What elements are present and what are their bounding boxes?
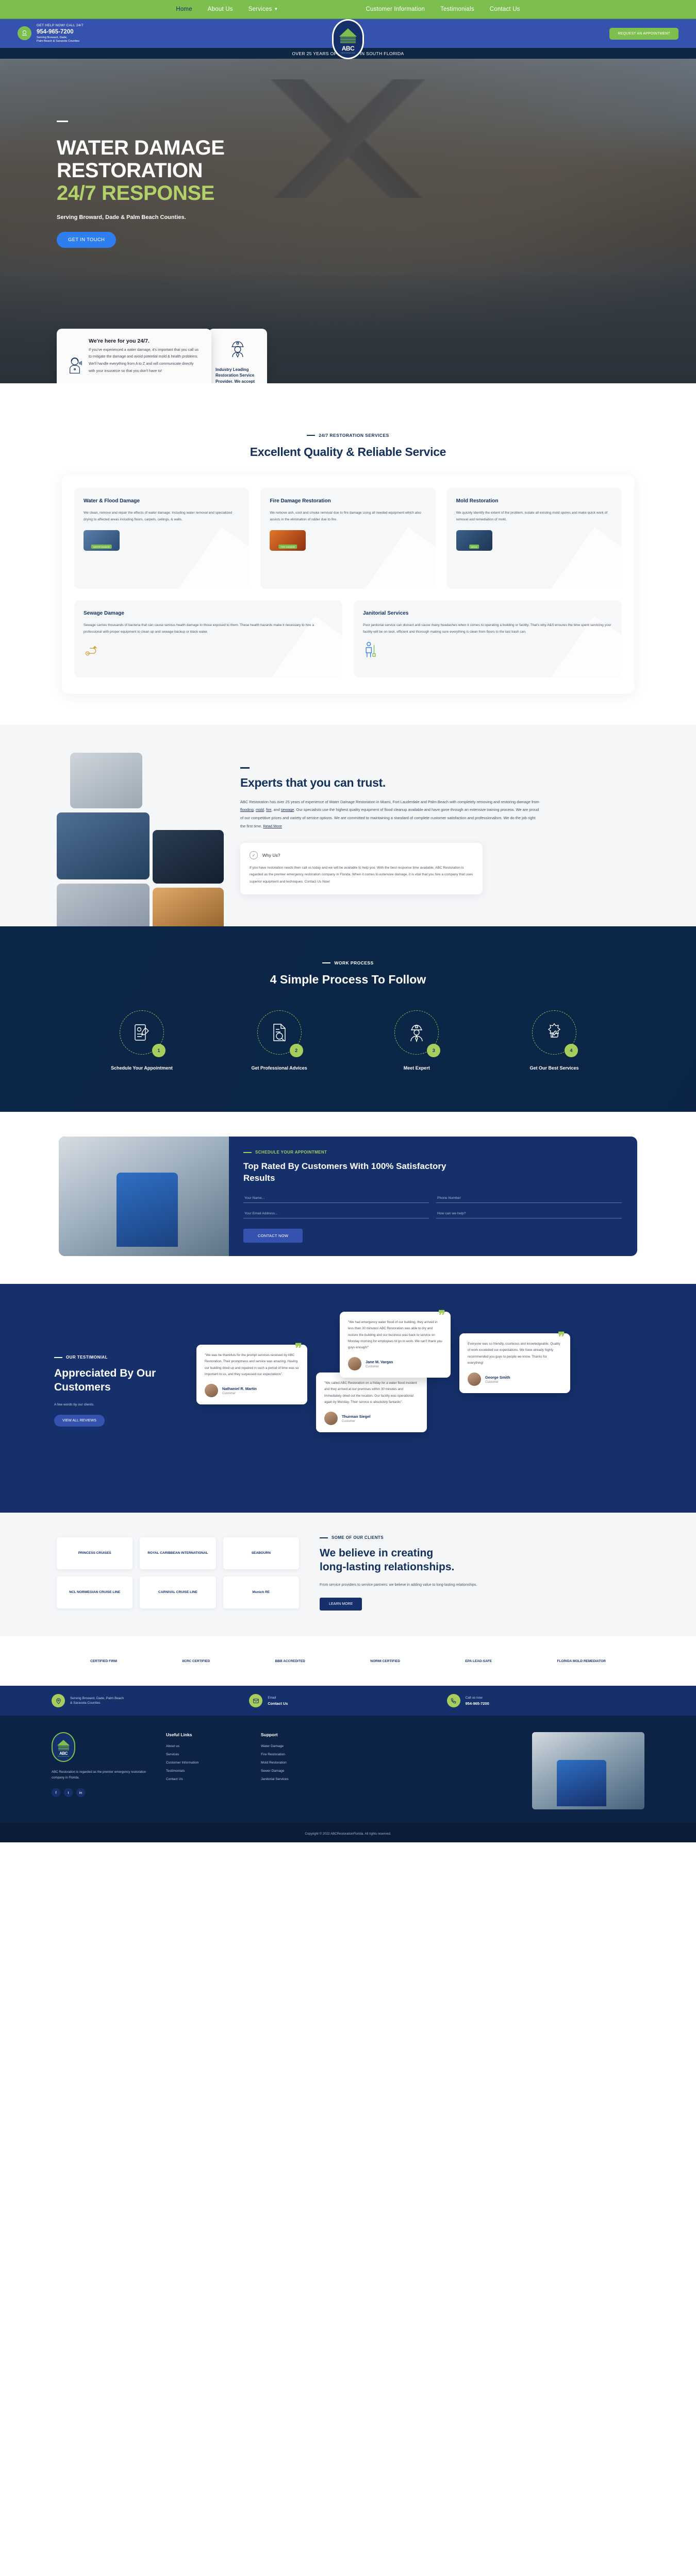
testimonials-section: OUR TESTIMONIAL Appreciated By Our Custo… xyxy=(0,1284,696,1513)
clients-title-line1: We believe in creating xyxy=(320,1547,433,1559)
message-input[interactable] xyxy=(436,1209,622,1218)
nav-item-home[interactable]: Home xyxy=(176,6,192,12)
testimonials-title: Appreciated By Our Customers xyxy=(54,1367,183,1395)
appointment-title: Top Rated By Customers With 100% Satisfa… xyxy=(243,1161,465,1184)
footer-column-useful-links: Useful Links About us Services Customer … xyxy=(166,1732,243,1809)
footer-link-janitorial-services[interactable]: Janitorial Services xyxy=(261,1777,338,1781)
chevron-down-icon: ▼ xyxy=(274,7,278,11)
envelope-icon xyxy=(249,1694,262,1707)
nav-item-contact-us[interactable]: Contact Us xyxy=(490,6,520,12)
info-strip-phone-label: Call us now xyxy=(466,1696,489,1700)
collage-photo-1 xyxy=(70,753,142,808)
view-all-reviews-button[interactable]: VIEW ALL REVIEWS xyxy=(54,1415,105,1427)
info-strip-phone-number[interactable]: 954-965-7200 xyxy=(466,1701,489,1706)
experts-paragraph-pre: ABC Restoration has over 25 years of exp… xyxy=(240,800,539,804)
hero-accent-dash xyxy=(57,121,68,122)
hard-hat-worker-icon xyxy=(216,339,260,360)
main-navigation: Home About Us Services▼ Customer Informa… xyxy=(0,0,696,19)
client-logo: Munich RE xyxy=(223,1577,299,1608)
contact-bar-serving-line2: Palm Beach & Sarasota Counties xyxy=(37,40,84,43)
abc-restoration-logo[interactable]: ABC RESTORATION xyxy=(332,19,364,59)
service-card-title: Mold Restoration xyxy=(456,498,612,504)
hero-headline-line3: 24/7 RESPONSE xyxy=(57,182,214,205)
certification-badge: CERTIFIED FIRM xyxy=(90,1650,117,1673)
footer-logo[interactable]: ABC RESTORATION xyxy=(52,1732,75,1762)
avatar xyxy=(205,1384,218,1397)
process-step-1[interactable]: 1 Schedule Your Appointment xyxy=(90,1010,193,1072)
why-us-title: Why Us? xyxy=(262,853,280,858)
facebook-icon[interactable]: f xyxy=(52,1788,60,1797)
avatar xyxy=(468,1372,481,1386)
industry-leading-card: Industry Leading Restoration Service Pro… xyxy=(208,329,267,383)
service-card-body: We remove ash, soot and smoke removal du… xyxy=(270,510,426,523)
availability-card: We're here for you 24/7. If you've exper… xyxy=(57,329,211,383)
logo-wordmark: ABC xyxy=(342,45,355,52)
janitor-icon xyxy=(363,641,612,662)
link-sewage[interactable]: sewage xyxy=(281,807,294,812)
clipboard-signup-icon xyxy=(133,1023,151,1042)
clients-title: We believe in creating long-lasting rela… xyxy=(320,1546,639,1574)
link-mold[interactable]: mold xyxy=(256,807,264,812)
info-strip-email-link[interactable]: Contact Us xyxy=(268,1701,288,1706)
nav-item-testimonials[interactable]: Testimonials xyxy=(440,6,474,12)
service-card-title: Janitorial Services xyxy=(363,611,612,616)
eyebrow-dash xyxy=(322,962,330,963)
experts-photo-collage xyxy=(57,753,227,894)
client-logo: SEABOURN xyxy=(223,1537,299,1569)
footer-column-heading: Useful Links xyxy=(166,1732,243,1737)
service-card-body: We clean, remove and repair the effects … xyxy=(84,510,240,523)
process-step-4[interactable]: 4 Get Our Best Services xyxy=(503,1010,606,1072)
process-step-number: 1 xyxy=(152,1044,165,1057)
service-thumb-badge: FIRE DAMAGE xyxy=(279,545,297,549)
footer-link-fire-restoration[interactable]: Fire Restoration xyxy=(261,1753,338,1756)
certification-badge: FLORIDA MOLD REMEDIATOR xyxy=(557,1650,606,1673)
service-card-sewage-damage[interactable]: Sewage Damage Sewage carries thousands o… xyxy=(74,600,342,677)
footer-description: ABC Restoration is regarded as the premi… xyxy=(52,1769,148,1781)
location-pin-icon xyxy=(52,1694,65,1707)
services-eyebrow: 24/7 RESTORATION SERVICES xyxy=(0,433,696,438)
footer-link-customer-information[interactable]: Customer Information xyxy=(166,1761,243,1765)
name-input[interactable] xyxy=(243,1194,429,1203)
service-card-title: Sewage Damage xyxy=(84,611,333,616)
testimonial-cards: ❞ "We was be thankfuls for the prompt se… xyxy=(196,1312,642,1482)
process-step-number: 2 xyxy=(290,1044,303,1057)
get-in-touch-button[interactable]: GET IN TOUCH xyxy=(57,232,116,248)
process-step-label: Get Professional Advices xyxy=(228,1065,331,1072)
info-strip-email[interactable]: Email Contact Us xyxy=(249,1694,446,1707)
service-card-body: Sewage carries thousands of bacteria tha… xyxy=(84,622,333,635)
appointment-eyebrow: SCHEDULE YOUR APPOINTMENT xyxy=(243,1150,622,1155)
hero-headline-line2: RESTORATION xyxy=(57,159,203,182)
client-logo: PRINCESS CRUISES xyxy=(57,1537,132,1569)
testimonial-author: Thurman Siegel xyxy=(342,1414,370,1419)
process-step-label: Schedule Your Appointment xyxy=(90,1065,193,1072)
footer-link-about-us[interactable]: About us xyxy=(166,1744,243,1748)
link-flooding[interactable]: flooding xyxy=(240,807,254,812)
info-strip-location-line1: Serving Broward, Dade, Palm Beach xyxy=(70,1696,124,1701)
quote-icon: ❞ xyxy=(295,1342,302,1355)
worker-icon xyxy=(408,1023,425,1042)
certification-badge: NORMI CERTIFIED xyxy=(370,1650,400,1673)
water-damage-thumb: WATER DAMAGE xyxy=(84,530,120,551)
logo-house-body-icon xyxy=(340,36,356,44)
eyebrow-dash xyxy=(307,435,315,436)
learn-more-button[interactable]: LEARN MORE xyxy=(320,1598,362,1611)
services-title: Excellent Quality & Reliable Service xyxy=(0,445,696,459)
services-panel: Water & Flood Damage We clean, remove an… xyxy=(62,474,634,694)
nav-item-services-label: Services xyxy=(248,6,272,12)
support-agent-icon xyxy=(66,355,84,383)
process-step-3[interactable]: 3 Meet Expert xyxy=(365,1010,468,1072)
client-logo: NCL NORWEGIAN CRUISE LINE xyxy=(57,1577,132,1608)
collage-photo-2 xyxy=(57,812,150,879)
contact-bar: GET HELP NOW! CALL 24/7 954-965-7200 Ser… xyxy=(0,19,696,48)
testimonial-role: Customer xyxy=(485,1381,510,1384)
quote-icon: ❞ xyxy=(438,1309,445,1322)
testimonial-quote: "We called ABC Restoration on a friday f… xyxy=(324,1380,419,1405)
certifications-section: CERTIFIED FIRM IICRC CERTIFIED BBB ACCRE… xyxy=(0,1636,696,1686)
footer-social-links: f t in xyxy=(52,1788,148,1797)
services-section: 24/7 RESTORATION SERVICES Excellent Qual… xyxy=(0,383,696,725)
info-strip-location-line2: & Sarasota Counties xyxy=(70,1701,124,1705)
process-title: 4 Simple Process To Follow xyxy=(0,973,696,987)
service-thumb-badge: MOLD xyxy=(469,545,479,549)
footer-link-contact-us[interactable]: Contact Us xyxy=(166,1777,243,1781)
site-footer: ABC RESTORATION ABC Restoration is regar… xyxy=(0,1716,696,1823)
experts-paragraph: ABC Restoration has over 25 years of exp… xyxy=(240,798,539,831)
certification-badge: EPA LEAD-SAFE xyxy=(465,1650,492,1673)
process-step-2[interactable]: 2 Get Professional Advices xyxy=(228,1010,331,1072)
testimonial-role: Customer xyxy=(342,1420,370,1423)
logo-roof-icon xyxy=(339,28,357,37)
footer-column-heading: Support xyxy=(261,1732,338,1737)
contact-bar-serving-line1: Serving Broward, Dade, xyxy=(37,36,84,40)
contact-bar-kicker: GET HELP NOW! CALL 24/7 xyxy=(37,24,84,28)
fire-damage-thumb: FIRE DAMAGE xyxy=(270,530,306,551)
phone-input[interactable] xyxy=(436,1194,622,1203)
service-card-mold-restoration[interactable]: Mold Restoration We quickly identify the… xyxy=(447,488,622,589)
thumbs-up-badge-icon xyxy=(545,1023,563,1042)
quote-icon: ❞ xyxy=(558,1330,565,1344)
services-eyebrow-text: 24/7 RESTORATION SERVICES xyxy=(319,433,389,438)
testimonial-card: ❞ "We was be thankfuls for the prompt se… xyxy=(196,1345,307,1404)
check-circle-icon: ✓ xyxy=(250,851,258,859)
phone-icon xyxy=(447,1694,460,1707)
testimonials-note: A few words by our clients. xyxy=(54,1403,183,1406)
copyright-bar: Copyright © 2022 ABCRestorationFlorida. … xyxy=(0,1823,696,1842)
appointment-form: CONTACT NOW xyxy=(243,1194,622,1243)
collage-photo-4 xyxy=(153,830,224,884)
testimonial-role: Customer xyxy=(222,1392,257,1395)
process-step-number: 3 xyxy=(427,1044,440,1057)
mold-restoration-thumb: MOLD xyxy=(456,530,492,551)
availability-card-body: If you've experienced a water damage, it… xyxy=(89,347,201,375)
appointment-eyebrow-text: SCHEDULE YOUR APPOINTMENT xyxy=(255,1150,327,1155)
email-input[interactable] xyxy=(243,1209,429,1218)
eyebrow-dash xyxy=(54,1357,62,1358)
client-logo-grid: PRINCESS CRUISES ROYAL CARIBBEAN INTERNA… xyxy=(57,1537,299,1608)
footer-link-testimonials[interactable]: Testimonials xyxy=(166,1769,243,1773)
info-strip-phone[interactable]: Call us now 954-965-7200 xyxy=(447,1694,644,1707)
testimonial-author: George Smith xyxy=(485,1375,510,1380)
contact-bar-phone[interactable]: 954-965-7200 xyxy=(37,28,84,36)
copyright-text: Copyright © 2022 ABCRestorationFlorida. … xyxy=(305,1832,391,1836)
footer-info-strip: Serving Broward, Dade, Palm Beach & Sara… xyxy=(0,1686,696,1716)
services-row-2: Sewage Damage Sewage carries thousands o… xyxy=(74,600,622,677)
phone-icon xyxy=(18,26,31,40)
testimonial-card: ❞ "We had emergency water flood of our b… xyxy=(340,1312,451,1378)
service-card-janitorial[interactable]: Janitorial Services Poor janitorial serv… xyxy=(354,600,622,677)
testimonials-eyebrow-text: OUR TESTIMONIAL xyxy=(66,1355,108,1360)
eyebrow-dash xyxy=(320,1537,328,1538)
process-step-label: Meet Expert xyxy=(365,1065,468,1072)
process-eyebrow: WORK PROCESS xyxy=(0,960,696,965)
footer-link-water-damage[interactable]: Water Damage xyxy=(261,1744,338,1748)
footer-link-services[interactable]: Services xyxy=(166,1753,243,1756)
clients-section: PRINCESS CRUISES ROYAL CARIBBEAN INTERNA… xyxy=(0,1513,696,1636)
request-appointment-button[interactable]: REQUEST AN APPOINTMENT xyxy=(609,28,678,40)
service-card-fire-damage[interactable]: Fire Damage Restoration We remove ash, s… xyxy=(260,488,435,589)
testimonial-card: ❞ Everyone was so friendly, courteous an… xyxy=(459,1333,570,1393)
logo-house-body-icon xyxy=(58,1745,69,1750)
twitter-icon[interactable]: t xyxy=(64,1788,73,1797)
process-steps: 1 Schedule Your Appointment 2 Get Profes… xyxy=(90,1010,606,1072)
service-card-body: Poor janitorial service can distract and… xyxy=(363,622,612,635)
footer-technician-photo xyxy=(532,1732,644,1809)
clients-body-text: From service providers to service partne… xyxy=(320,1582,490,1588)
avatar xyxy=(348,1357,361,1370)
clients-title-line2: long-lasting relationships. xyxy=(320,1561,454,1573)
nav-item-about-us[interactable]: About Us xyxy=(208,6,233,12)
linkedin-icon[interactable]: in xyxy=(76,1788,85,1797)
logo-wordmark: ABC xyxy=(59,1751,68,1756)
testimonial-quote: "We was be thankfuls for the prompt serv… xyxy=(205,1352,299,1378)
eyebrow-dash xyxy=(243,1152,252,1153)
clients-eyebrow: SOME OF OUR CLIENTS xyxy=(320,1535,639,1540)
hero-headline: WATER DAMAGE RESTORATION 24/7 RESPONSE xyxy=(57,137,376,205)
work-process-section: WORK PROCESS 4 Simple Process To Follow … xyxy=(0,926,696,1112)
service-card-title: Water & Flood Damage xyxy=(84,498,240,504)
certification-badge: IICRC CERTIFIED xyxy=(182,1650,210,1673)
testimonial-card: ❞ "We called ABC Restoration on a friday… xyxy=(316,1372,427,1432)
link-fire[interactable]: fire xyxy=(266,807,271,812)
service-card-body: We quickly identify the extent of the pr… xyxy=(456,510,612,523)
availability-card-title: We're here for you 24/7. xyxy=(89,338,201,344)
services-row-1: Water & Flood Damage We clean, remove an… xyxy=(74,488,622,589)
testimonial-author: Nathaniel R. Martin xyxy=(222,1386,257,1391)
testimonial-quote: Everyone was so friendly, courteous and … xyxy=(468,1341,562,1366)
why-us-body: If you have restoration needs then call … xyxy=(250,865,473,885)
sewage-pump-icon xyxy=(84,641,333,659)
testimonials-eyebrow: OUR TESTIMONIAL xyxy=(54,1355,183,1360)
clients-eyebrow-text: SOME OF OUR CLIENTS xyxy=(332,1535,384,1540)
service-thumb-badge: WATER DAMAGE xyxy=(91,545,112,549)
experts-accent-dash xyxy=(240,767,250,769)
testimonial-quote: "We had emergency water flood of our bui… xyxy=(348,1319,442,1351)
process-eyebrow-text: WORK PROCESS xyxy=(334,960,373,965)
client-logo: ROYAL CARIBBEAN INTERNATIONAL xyxy=(140,1537,216,1569)
client-logo: CARNIVAL CRUISE LINE xyxy=(140,1577,216,1608)
why-us-card: ✓ Why Us? If you have restoration needs … xyxy=(240,843,483,894)
logo-subtext: RESTORATION xyxy=(58,1756,69,1757)
footer-column-support: Support Water Damage Fire Restoration Mo… xyxy=(261,1732,338,1809)
info-strip-location: Serving Broward, Dade, Palm Beach & Sara… xyxy=(52,1694,249,1707)
appointment-photo xyxy=(59,1137,229,1256)
service-card-title: Fire Damage Restoration xyxy=(270,498,426,504)
contact-bar-phone-block[interactable]: GET HELP NOW! CALL 24/7 954-965-7200 Ser… xyxy=(18,24,84,43)
certification-badge: BBB ACCREDITED xyxy=(275,1650,305,1673)
process-step-number: 4 xyxy=(565,1044,578,1057)
nav-item-services[interactable]: Services▼ xyxy=(248,6,278,12)
hero-headline-line1: WATER DAMAGE xyxy=(57,137,225,159)
process-step-label: Get Our Best Services xyxy=(503,1065,606,1072)
logo-subtext: RESTORATION xyxy=(341,52,355,54)
testimonial-role: Customer xyxy=(366,1365,393,1368)
avatar xyxy=(324,1412,338,1425)
testimonial-author: Jane M. Vargas xyxy=(366,1360,393,1364)
hero-info-cards: We're here for you 24/7. If you've exper… xyxy=(57,329,267,383)
experts-title: Experts that you can trust. xyxy=(240,776,639,790)
industry-leading-card-text: Industry Leading Restoration Service Pro… xyxy=(216,367,260,383)
hero-subtitle: Serving Broward, Dade & Palm Beach Count… xyxy=(57,214,696,221)
experts-section: Experts that you can trust. ABC Restorat… xyxy=(0,725,696,926)
contact-now-button[interactable]: CONTACT NOW xyxy=(243,1229,303,1243)
read-more-link[interactable]: Read More xyxy=(263,824,282,828)
appointment-section: SCHEDULE YOUR APPOINTMENT Top Rated By C… xyxy=(0,1112,696,1284)
footer-link-mold-restoration[interactable]: Mold Restoration xyxy=(261,1761,338,1765)
service-card-water-flood[interactable]: Water & Flood Damage We clean, remove an… xyxy=(74,488,249,589)
hero-section: WATER DAMAGE RESTORATION 24/7 RESPONSE S… xyxy=(0,59,696,383)
document-search-icon xyxy=(271,1023,288,1042)
info-strip-email-label: Email xyxy=(268,1696,288,1700)
nav-item-customer-information[interactable]: Customer Information xyxy=(366,6,425,12)
footer-link-sewer-damage[interactable]: Sewer Damage xyxy=(261,1769,338,1773)
page-root: Home About Us Services▼ Customer Informa… xyxy=(0,0,696,1842)
